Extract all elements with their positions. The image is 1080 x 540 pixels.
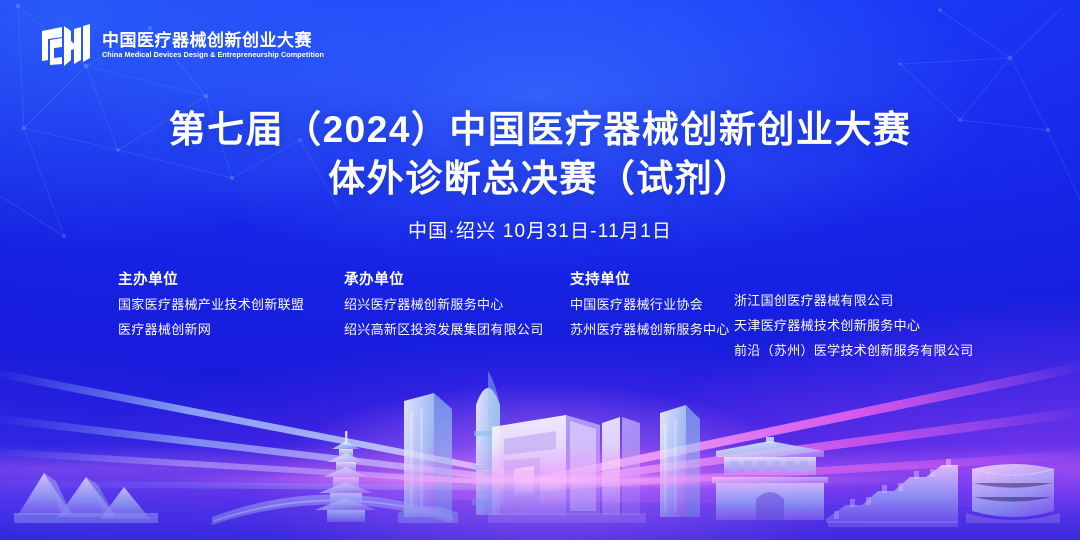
organizer-column-supporter-extra: 浙江国创医疗器械有限公司 天津医疗器械技术创新服务中心 前沿（苏州）医学技术创新… xyxy=(734,294,973,357)
organizer-item: 国家医疗器械产业技术创新联盟 xyxy=(118,298,304,311)
title-line-1: 第七届（2024）中国医疗器械创新创业大赛 xyxy=(0,106,1080,155)
organizers-section: 主办单位 国家医疗器械产业技术创新联盟 医疗器械创新网 承办单位 绍兴医疗器械创… xyxy=(118,268,998,360)
organizer-item: 浙江国创医疗器械有限公司 xyxy=(734,294,973,307)
page-title: 第七届（2024）中国医疗器械创新创业大赛 体外诊断总决赛（试剂） xyxy=(0,106,1080,204)
poster-canvas: 中国医疗器械创新创业大赛 China Medical Devices Desig… xyxy=(0,0,1080,540)
organizer-item: 医疗器械创新网 xyxy=(118,323,304,336)
organizer-column-organizer: 承办单位 绍兴医疗器械创新服务中心 绍兴高新区投资发展集团有限公司 xyxy=(344,268,544,336)
organizer-item: 绍兴高新区投资发展集团有限公司 xyxy=(344,323,544,336)
organizer-item: 天津医疗器械技术创新服务中心 xyxy=(734,319,973,332)
organizer-column-title: 承办单位 xyxy=(344,268,544,289)
organizer-item: 绍兴医疗器械创新服务中心 xyxy=(344,298,544,311)
brand-logo-lockup[interactable]: 中国医疗器械创新创业大赛 China Medical Devices Desig… xyxy=(40,20,331,68)
open-book-door-logo-icon xyxy=(40,20,92,68)
title-line-2: 体外诊断总决赛（试剂） xyxy=(0,155,1080,204)
brand-name-en: China Medical Devices Design & Entrepren… xyxy=(102,51,324,59)
brand-name-cn: 中国医疗器械创新创业大赛 xyxy=(102,32,331,50)
organizer-item: 前沿（苏州）医学技术创新服务有限公司 xyxy=(734,344,973,357)
brand-logo-text: 中国医疗器械创新创业大赛 China Medical Devices Desig… xyxy=(102,28,331,59)
organizer-item: 苏州医疗器械创新服务中心 xyxy=(570,323,730,336)
event-location-date: 中国·绍兴 10月31日-11月1日 xyxy=(0,216,1080,243)
poster-content: 中国医疗器械创新创业大赛 China Medical Devices Desig… xyxy=(0,0,1080,540)
organizer-column-supporter: 支持单位 中国医疗器械行业协会 苏州医疗器械创新服务中心 xyxy=(570,268,730,336)
organizer-column-title: 支持单位 xyxy=(570,268,730,289)
organizer-item: 中国医疗器械行业协会 xyxy=(570,298,730,311)
organizer-column-host: 主办单位 国家医疗器械产业技术创新联盟 医疗器械创新网 xyxy=(118,268,304,336)
organizer-column-title: 主办单位 xyxy=(118,268,304,289)
